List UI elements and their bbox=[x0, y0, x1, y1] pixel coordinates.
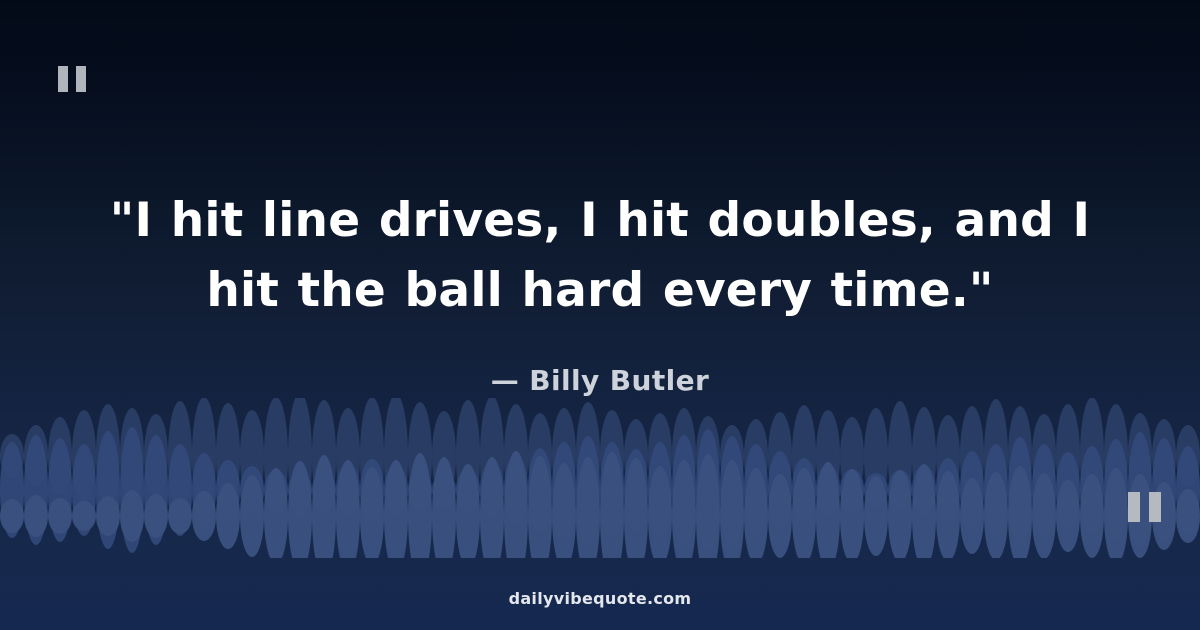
quote-close-icon bbox=[1128, 492, 1161, 522]
waveform-back-row bbox=[0, 398, 1200, 519]
audio-waveform-decoration bbox=[0, 398, 1200, 558]
quote-close-bar-2 bbox=[1149, 492, 1161, 522]
attribution-container: — Billy Butler bbox=[0, 364, 1200, 397]
quote-open-bar-2 bbox=[76, 66, 86, 92]
quote-card: "I hit line drives, I hit doubles, and I… bbox=[0, 0, 1200, 630]
footer-container: dailyvibequote.com bbox=[0, 589, 1200, 608]
quote-close-bar-1 bbox=[1128, 492, 1140, 522]
waveform-mid-row bbox=[0, 427, 1200, 553]
attribution-author: — Billy Butler bbox=[0, 364, 1200, 397]
quote-text: "I hit line drives, I hit doubles, and I… bbox=[88, 186, 1112, 326]
waveform-front-row bbox=[0, 451, 1200, 558]
quote-open-icon bbox=[58, 66, 86, 92]
quote-open-bar-1 bbox=[58, 66, 68, 92]
quote-container: "I hit line drives, I hit doubles, and I… bbox=[0, 186, 1200, 326]
site-url: dailyvibequote.com bbox=[0, 589, 1200, 608]
